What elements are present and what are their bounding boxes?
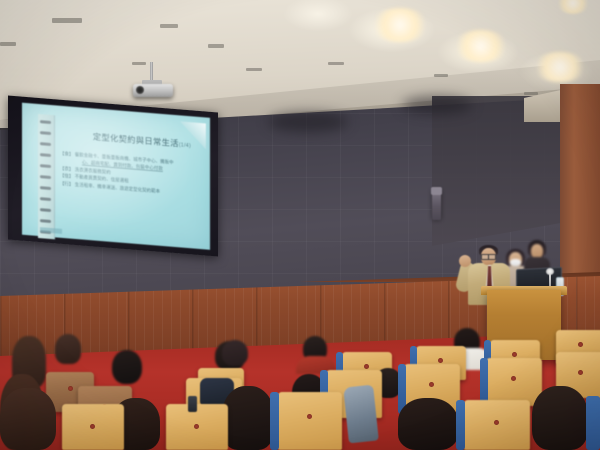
auditorium-seat[interactable]	[278, 392, 342, 450]
auditorium-seat[interactable]	[464, 400, 530, 450]
slide-body: 【食】 餐飲金融卡、量販量販商機、城市子中心、攤販中 心、超商宅配、貨到付款、包…	[60, 150, 212, 199]
projector-lens-icon	[136, 86, 144, 94]
attendee-head	[531, 244, 543, 258]
binding-ring	[40, 175, 51, 179]
seat-frame	[270, 392, 279, 450]
binding-ring	[40, 142, 51, 146]
seat-hinge-knob	[68, 386, 73, 391]
binding-ring	[40, 219, 51, 223]
binding-ring	[40, 197, 51, 201]
presenter-fist	[459, 255, 471, 267]
audience-hair-long	[398, 398, 458, 450]
audience-hair-long	[0, 388, 56, 450]
slide-line-tag: 【行】	[60, 180, 73, 186]
slide-title-text: 定型化契約與日常生活	[93, 132, 179, 148]
binding-ring	[40, 208, 51, 212]
binding-ring	[40, 131, 51, 135]
slide-line-tag: 【衣】	[60, 166, 73, 172]
downlight-icon	[532, 52, 588, 82]
seat-hinge-knob	[429, 382, 434, 387]
audience-head	[112, 350, 142, 384]
projected-slide: 定型化契約與日常生活(1/4) 【食】 餐飲金融卡、量販量販商機、城市子中心、攤…	[22, 103, 210, 250]
wall-mounted-fixture	[432, 190, 441, 220]
seat-hinge-knob	[364, 364, 369, 369]
audience-hair-long	[532, 386, 588, 450]
ceiling-vent	[160, 24, 178, 28]
wall-stain	[268, 112, 348, 132]
face-mask	[510, 259, 521, 266]
ceiling-vent	[524, 92, 538, 95]
binding-ring	[40, 120, 51, 124]
seat-frame	[586, 396, 600, 450]
wall-stain	[402, 96, 472, 114]
slide-spiral-binding	[38, 114, 55, 239]
binding-ring	[40, 164, 51, 168]
seat-hinge-knob	[307, 414, 312, 419]
seat-hinge-knob	[438, 358, 443, 363]
seat-hinge-knob	[578, 370, 583, 375]
ceiling-vent	[0, 42, 16, 46]
audience-hair-long	[222, 386, 274, 450]
ceiling-vent	[328, 62, 344, 65]
seat-frame	[456, 400, 465, 450]
lecture-hall-photo: 定型化契約與日常生活(1/4) 【食】 餐飲金融卡、量販量販商機、城市子中心、攤…	[0, 0, 600, 450]
ceiling-vent	[208, 44, 224, 48]
smartphone-icon	[188, 396, 197, 412]
seat-hinge-knob	[578, 342, 583, 347]
downlight-icon	[452, 30, 510, 62]
audience-head-bald	[222, 340, 248, 366]
auditorium-seat[interactable]	[486, 358, 542, 406]
downlight-icon	[370, 8, 430, 42]
jacket-on-seat	[343, 385, 379, 444]
slide-line-tag: 【食】	[60, 151, 73, 157]
binding-ring	[40, 186, 51, 190]
slide-title-suffix: (1/4)	[179, 142, 191, 149]
audience-head	[55, 334, 81, 364]
seat-hinge-knob	[494, 420, 499, 425]
seat-hinge-knob	[511, 376, 516, 381]
binding-ring	[40, 153, 51, 157]
seat-hinge-knob	[194, 424, 199, 429]
ceiling-vent	[132, 62, 146, 65]
ceiling-vent	[434, 74, 448, 77]
projection-screen: 定型化契約與日常生活(1/4) 【食】 餐飲金融卡、量販量販商機、城市子中心、攤…	[8, 96, 218, 257]
ceiling-vent	[52, 18, 82, 23]
ceiling-vent	[246, 68, 262, 71]
slide-line-tag: 【住】	[60, 173, 73, 179]
seat-hinge-knob	[512, 352, 517, 357]
seat-hinge-knob	[90, 424, 95, 429]
microphone-icon[interactable]	[546, 268, 554, 275]
eyeglasses-icon	[481, 254, 496, 258]
